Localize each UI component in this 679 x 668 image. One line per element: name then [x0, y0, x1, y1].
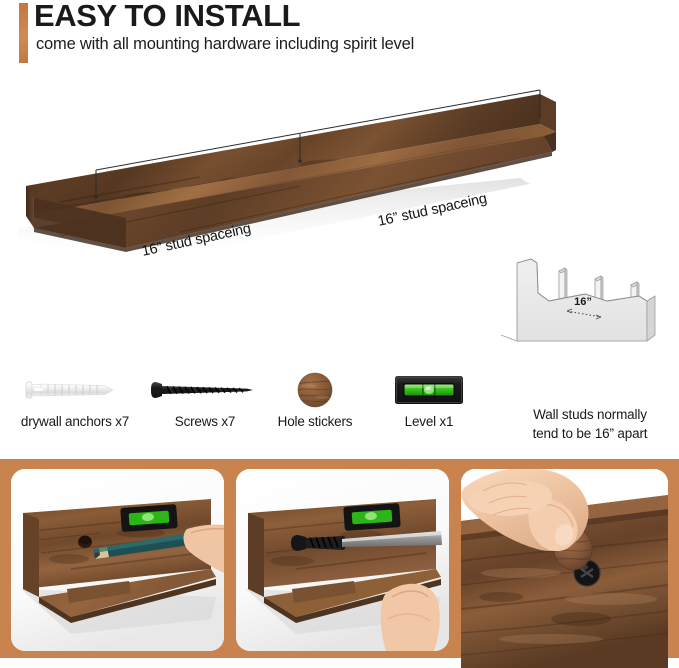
header: EASY TO INSTALL come with all mounting h…: [0, 0, 679, 62]
hardware-label-drywall-anchors: drywall anchors x7: [0, 414, 150, 429]
hardware-list: drywall anchors x7: [0, 368, 495, 438]
page-subtitle: come with all mounting hardware includin…: [36, 33, 414, 55]
photo-strip: [0, 459, 679, 658]
screw-icon: [140, 368, 270, 412]
stud-caption-line2: tend to be 16” apart: [506, 425, 674, 444]
hardware-item-drywall-anchors: drywall anchors x7: [0, 368, 150, 429]
stud-caption-line1: Wall studs normally: [506, 406, 674, 425]
wall-stud-diagram: 16”: [497, 249, 673, 357]
hardware-label-level: Level x1: [368, 414, 490, 429]
stud-caption: Wall studs normally tend to be 16” apart: [506, 406, 674, 443]
drywall-anchor-icon: [0, 368, 150, 412]
accent-bar: [19, 3, 28, 63]
hardware-item-hole-stickers: Hole stickers: [258, 368, 372, 429]
shelf-image: [0, 66, 560, 271]
hardware-label-screws: Screws x7: [140, 414, 270, 429]
stud-dimension-label: 16”: [574, 296, 592, 308]
hole-sticker-icon: [258, 368, 372, 412]
install-infographic: EASY TO INSTALL come with all mounting h…: [0, 0, 679, 658]
hardware-item-screws: Screws x7: [140, 368, 270, 429]
photo-panel-apply-sticker: [461, 469, 668, 668]
hardware-item-level: Level x1: [368, 368, 490, 429]
page-title: EASY TO INSTALL: [34, 0, 300, 34]
hardware-label-hole-stickers: Hole stickers: [258, 414, 372, 429]
photo-panel-mark-hole: [11, 469, 224, 651]
photo-panel-drive-screw: [236, 469, 449, 651]
spirit-level-icon: [368, 368, 490, 412]
